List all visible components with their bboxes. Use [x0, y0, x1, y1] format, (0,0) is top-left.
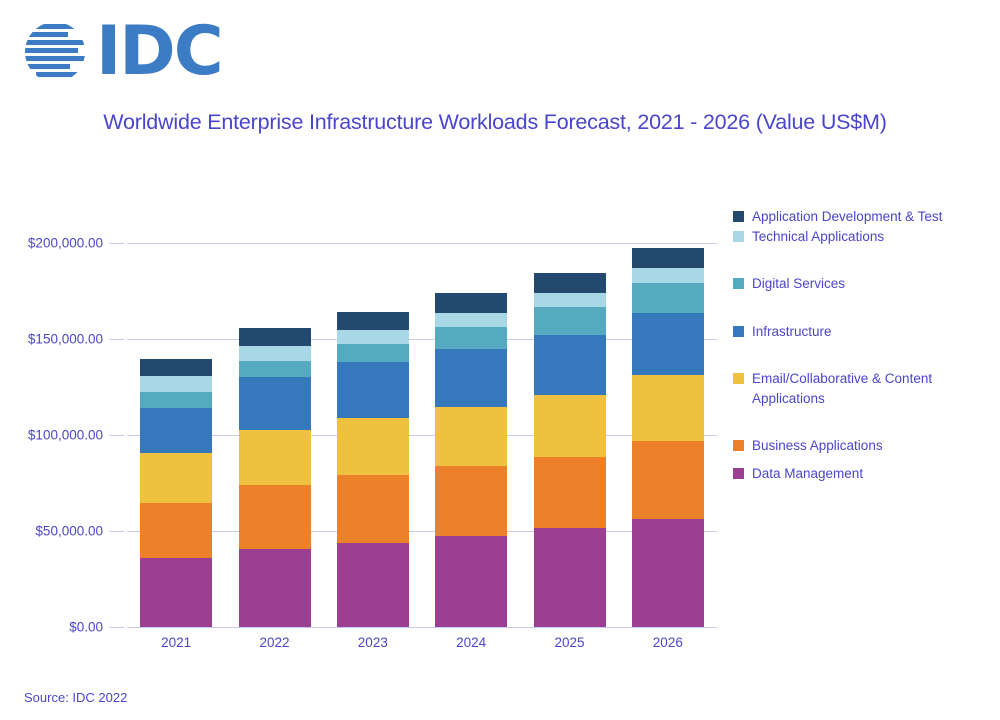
bar-segment[interactable] — [435, 349, 507, 407]
chart-title: Worldwide Enterprise Infrastructure Work… — [100, 108, 890, 138]
bar-segment[interactable] — [632, 441, 704, 519]
legend-swatch-icon — [733, 326, 744, 337]
bar-2025[interactable] — [534, 273, 606, 627]
bar-segment[interactable] — [632, 519, 704, 627]
bar-segment[interactable] — [239, 377, 311, 430]
bar-segment[interactable] — [632, 313, 704, 375]
y-axis-label: $50,000.00 — [35, 524, 103, 539]
bar-segment[interactable] — [435, 313, 507, 327]
chart-legend: Application Development & TestTechnical … — [733, 207, 993, 512]
bar-segment[interactable] — [239, 485, 311, 549]
bar-segment[interactable] — [140, 376, 212, 392]
x-axis-label-2023: 2023 — [337, 635, 409, 650]
legend-label: Infrastructure — [752, 322, 832, 342]
bar-segment[interactable] — [337, 418, 409, 475]
x-axis-label-2024: 2024 — [435, 635, 507, 650]
legend-label: Application Development & Test — [752, 207, 942, 227]
bar-segment[interactable] — [239, 549, 311, 627]
bar-2022[interactable] — [239, 328, 311, 627]
bar-segment[interactable] — [239, 346, 311, 361]
bar-segment[interactable] — [435, 293, 507, 313]
idc-logo: IDC — [22, 18, 222, 86]
bar-segment[interactable] — [140, 359, 212, 376]
bar-segment[interactable] — [435, 466, 507, 536]
y-axis-tick — [109, 339, 124, 340]
chart-plot-area: $0.00$50,000.00$100,000.00$150,000.00$20… — [127, 243, 717, 627]
bar-segment[interactable] — [239, 328, 311, 346]
bar-segment[interactable] — [435, 536, 507, 627]
legend-label: Digital Services — [752, 274, 845, 294]
bar-segment[interactable] — [239, 361, 311, 377]
x-axis-label-2022: 2022 — [239, 635, 311, 650]
bar-segment[interactable] — [632, 283, 704, 313]
bar-segment[interactable] — [534, 335, 606, 395]
y-gridline — [127, 531, 717, 532]
y-axis-tick — [109, 435, 124, 436]
y-axis-label: $0.00 — [69, 620, 103, 635]
legend-label: Technical Applications — [752, 227, 884, 247]
legend-swatch-icon — [733, 231, 744, 242]
bar-segment[interactable] — [534, 307, 606, 335]
legend-item[interactable]: Infrastructure — [733, 322, 993, 342]
y-axis-tick — [109, 243, 124, 244]
bar-segment[interactable] — [337, 362, 409, 418]
y-gridline — [127, 243, 717, 244]
legend-label: Data Management — [752, 464, 863, 484]
y-gridline — [127, 435, 717, 436]
y-axis-label: $150,000.00 — [28, 332, 103, 347]
legend-item[interactable]: Digital Services — [733, 274, 993, 294]
bar-segment[interactable] — [534, 528, 606, 627]
idc-globe-icon — [22, 19, 88, 85]
y-gridline — [127, 627, 717, 628]
bar-segment[interactable] — [140, 558, 212, 627]
bar-segment[interactable] — [239, 430, 311, 485]
bar-2024[interactable] — [435, 293, 507, 627]
bar-segment[interactable] — [534, 273, 606, 293]
legend-swatch-icon — [733, 468, 744, 479]
legend-swatch-icon — [733, 211, 744, 222]
bar-segment[interactable] — [632, 268, 704, 283]
y-axis-label: $100,000.00 — [28, 428, 103, 443]
x-axis-label-2026: 2026 — [632, 635, 704, 650]
bar-2021[interactable] — [140, 359, 212, 627]
bar-segment[interactable] — [534, 395, 606, 457]
bar-segment[interactable] — [632, 248, 704, 268]
bar-segment[interactable] — [632, 375, 704, 441]
y-axis-tick — [109, 627, 124, 628]
bar-segment[interactable] — [337, 543, 409, 627]
legend-label: Email/Collaborative & Content Applicatio… — [752, 369, 993, 408]
x-axis-label-2021: 2021 — [140, 635, 212, 650]
bar-segment[interactable] — [534, 457, 606, 528]
bar-segment[interactable] — [140, 408, 212, 453]
legend-item[interactable]: Technical Applications — [733, 227, 993, 247]
bar-segment[interactable] — [337, 344, 409, 362]
bar-segment[interactable] — [337, 330, 409, 344]
source-note: Source: IDC 2022 — [24, 690, 127, 705]
legend-item[interactable]: Application Development & Test — [733, 207, 993, 227]
y-axis-tick — [109, 531, 124, 532]
legend-swatch-icon — [733, 373, 744, 384]
idc-wordmark: IDC — [96, 18, 222, 86]
bar-segment[interactable] — [337, 312, 409, 330]
y-axis-label: $200,000.00 — [28, 236, 103, 251]
bar-segment[interactable] — [140, 453, 212, 503]
bar-2026[interactable] — [632, 248, 704, 627]
legend-label: Business Applications — [752, 436, 883, 456]
bar-segment[interactable] — [140, 392, 212, 408]
bar-segment[interactable] — [337, 475, 409, 543]
legend-swatch-icon — [733, 440, 744, 451]
bar-segment[interactable] — [435, 327, 507, 349]
legend-item[interactable]: Data Management — [733, 464, 993, 484]
legend-swatch-icon — [733, 278, 744, 289]
legend-item[interactable]: Email/Collaborative & Content Applicatio… — [733, 369, 993, 408]
x-axis-label-2025: 2025 — [534, 635, 606, 650]
bar-2023[interactable] — [337, 312, 409, 627]
bar-segment[interactable] — [534, 293, 606, 307]
legend-item[interactable]: Business Applications — [733, 436, 993, 456]
y-gridline — [127, 339, 717, 340]
bar-segment[interactable] — [140, 503, 212, 558]
bar-segment[interactable] — [435, 407, 507, 466]
